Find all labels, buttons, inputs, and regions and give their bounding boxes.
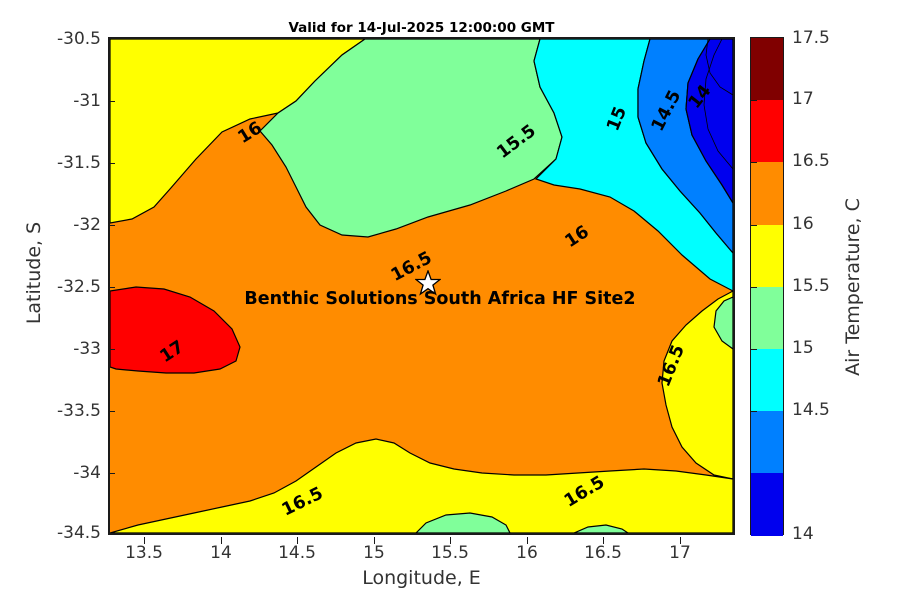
page-title: Valid for 14-Jul-2025 12:00:00 GMT	[108, 20, 735, 36]
colorbar-title: Air Temperature, C	[842, 137, 864, 437]
site-label: Benthic Solutions South Africa HF Site2	[244, 289, 635, 309]
colorbar-tick-label: 14.5	[792, 400, 830, 420]
y-axis: -30.5 -31 -31.5 -32 -32.5 -33 -33.5 -34 …	[0, 37, 101, 535]
x-tick-label: 13.5	[125, 543, 163, 563]
x-tick-label: 14.5	[278, 543, 316, 563]
colorbar-tick-label: 15	[792, 338, 814, 358]
y-tick-label: -34.5	[57, 523, 101, 543]
y-tick-label: -31	[73, 91, 101, 111]
y-tick-label: -34	[73, 463, 101, 483]
y-axis-title: Latitude, S	[23, 143, 45, 403]
y-tick-label: -31.5	[57, 153, 101, 173]
y-tick-label: -33.5	[57, 401, 101, 421]
y-tick-label: -30.5	[57, 29, 101, 49]
y-tick-marks	[108, 37, 116, 535]
plot-area: 16 15.5 15 14.5 14 16 16.5 17 16.5 16.5 …	[108, 37, 735, 535]
x-tick-label: 15.5	[431, 543, 469, 563]
x-tick-label: 16	[516, 543, 538, 563]
x-tick-label: 14	[210, 543, 232, 563]
colorbar-tick-label: 16.5	[792, 151, 830, 171]
x-tick-label: 17	[669, 543, 691, 563]
colorbar-tick-label: 14	[792, 524, 814, 544]
y-tick-label: -32.5	[57, 277, 101, 297]
x-tick-label: 15	[363, 543, 385, 563]
colorbar-tick-label: 17.5	[792, 28, 830, 48]
contour-map-figure: Valid for 14-Jul-2025 12:00:00 GMT	[0, 0, 900, 600]
colorbar-tick-label: 15.5	[792, 276, 830, 296]
y-tick-label: -32	[73, 215, 101, 235]
x-tick-label: 16.5	[584, 543, 622, 563]
colorbar-tick-label: 16	[792, 214, 814, 234]
x-axis-title: Longitude, E	[108, 567, 735, 589]
colorbar-tick-label: 17	[792, 89, 814, 109]
y-tick-label: -33	[73, 339, 101, 359]
